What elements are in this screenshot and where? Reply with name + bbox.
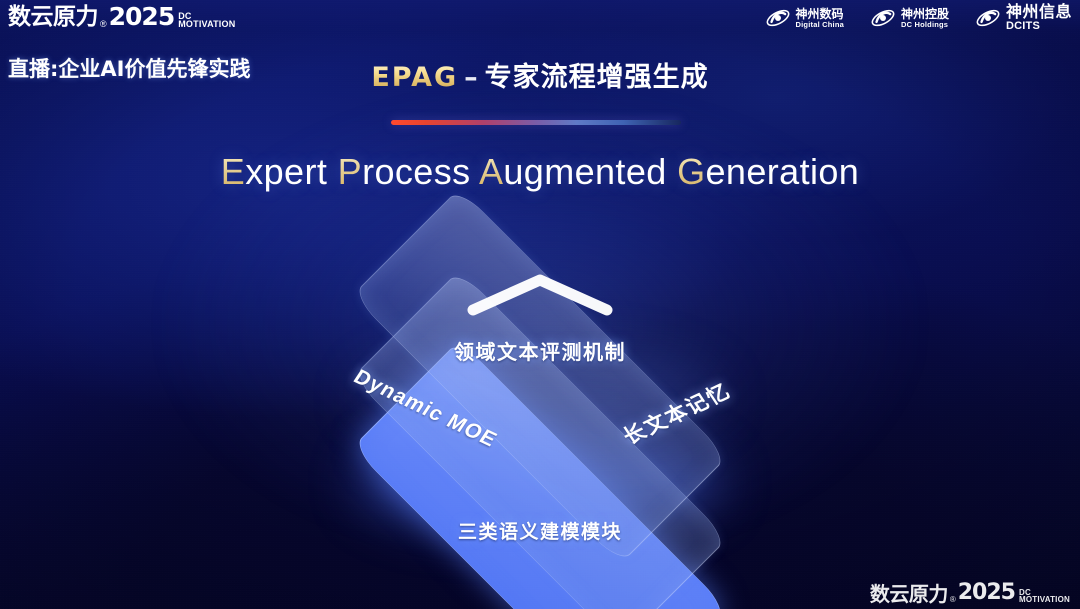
partner-name-cn: 神州信息 xyxy=(1006,4,1072,21)
partner-name-en: DC Holdings xyxy=(901,21,949,29)
chevron-up-icon xyxy=(465,272,615,316)
subtitle-cap-g: G xyxy=(677,151,705,192)
subtitle-word-process: Process xyxy=(338,151,471,192)
subtitle-word-augmented: Augmented xyxy=(479,151,667,192)
partner-label: 神州数码 Digital China xyxy=(796,8,844,28)
brand-name-cn: 数云原力 xyxy=(8,6,98,29)
watermark-dc-motivation: DC MOTIVATION xyxy=(1019,589,1070,604)
watermark-registered-mark: ® xyxy=(950,596,956,604)
diagram-label-bottom: 三类语义建模模块 xyxy=(458,517,622,544)
registered-mark: ® xyxy=(100,20,107,29)
title-acronym: EPAG xyxy=(371,62,458,93)
brand-year: 2025 xyxy=(109,4,175,29)
brand-motivation-label: MOTIVATION xyxy=(178,20,235,29)
partner-dcits: DCITS 神州信息 xyxy=(975,4,1072,32)
subtitle-cap-p: P xyxy=(338,151,362,192)
subtitle-cap-e: E xyxy=(221,151,245,192)
page-subtitle-english: Expert Process Augmented Generation xyxy=(0,151,1080,193)
page-title: EPAG–专家流程增强生成 xyxy=(0,55,1080,94)
swirl-icon xyxy=(975,5,1001,31)
layered-architecture-diagram: 领域文本评测机制 Dynamic MOE 长文本记忆 三类语义建模模块 xyxy=(300,238,780,568)
title-chinese: 专家流程增强生成 xyxy=(485,62,709,93)
brand-logo: 数云原力 ® 2025 DC MOTIVATION xyxy=(8,4,235,29)
partner-logo-group: 神州数码 Digital China 神州控股 DC Holdings xyxy=(765,4,1072,32)
brand-dc-motivation: DC MOTIVATION xyxy=(178,12,235,29)
slide-canvas: 数云原力 ® 2025 DC MOTIVATION 直播:企业AI价值先锋实践 … xyxy=(0,0,1080,609)
partner-name-cn: 神州控股 xyxy=(901,8,949,21)
partner-digital-china: 神州数码 Digital China xyxy=(765,5,844,31)
title-dash: – xyxy=(458,62,485,93)
subtitle-cap-a: A xyxy=(479,151,503,192)
subtitle-rest-generation: eneration xyxy=(706,151,860,192)
brand-watermark: 数云原力 ® 2025 DC MOTIVATION xyxy=(870,582,1070,604)
swirl-icon xyxy=(765,5,791,31)
swirl-icon xyxy=(870,5,896,31)
subtitle-rest-expert: xpert xyxy=(245,151,327,192)
subtitle-rest-augmented: ugmented xyxy=(503,151,666,192)
partner-name-en: DCITS xyxy=(1006,21,1072,33)
watermark-name-cn: 数云原力 xyxy=(870,584,948,604)
title-divider xyxy=(391,120,681,125)
partner-label: 神州控股 DC Holdings xyxy=(901,8,949,28)
partner-label: DCITS 神州信息 xyxy=(1006,4,1072,32)
partner-name-en: Digital China xyxy=(796,21,844,29)
subtitle-word-generation: Generation xyxy=(677,151,859,192)
watermark-year: 2025 xyxy=(958,582,1015,604)
subtitle-word-expert: Expert xyxy=(221,151,327,192)
partner-dc-holdings: 神州控股 DC Holdings xyxy=(870,5,949,31)
watermark-motivation-label: MOTIVATION xyxy=(1019,596,1070,604)
partner-name-cn: 神州数码 xyxy=(796,8,844,21)
diagram-label-top: 领域文本评测机制 xyxy=(454,336,626,365)
subtitle-rest-process: rocess xyxy=(362,151,470,192)
